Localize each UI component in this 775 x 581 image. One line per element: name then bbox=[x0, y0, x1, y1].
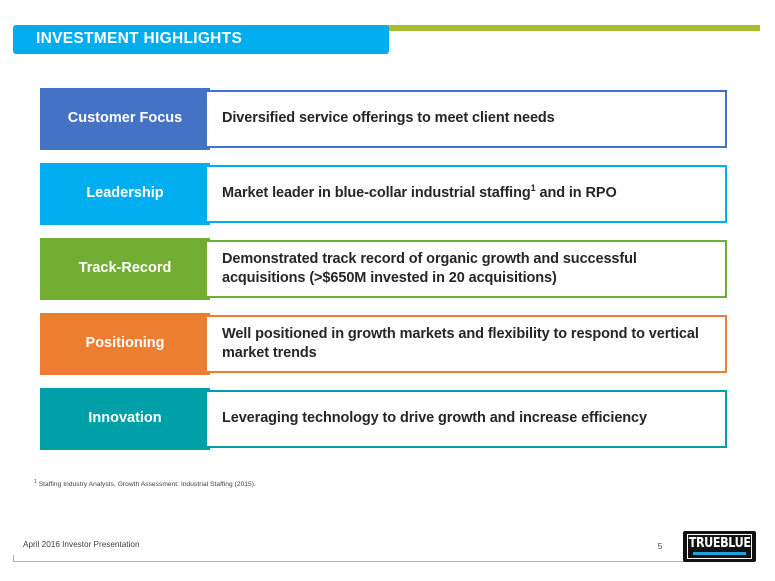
highlight-description-text: Market leader in blue-collar industrial … bbox=[207, 184, 627, 203]
highlight-category-label: Track-Record bbox=[79, 261, 172, 277]
highlights-list: Customer Focus Diversified service offer… bbox=[0, 88, 775, 463]
highlight-category-block-leadership: Leadership bbox=[40, 163, 210, 225]
slide-header: INVESTMENT HIGHLIGHTS bbox=[0, 0, 775, 62]
highlight-description-text: Leveraging technology to drive growth an… bbox=[207, 409, 657, 428]
highlight-description-box-leadership: Market leader in blue-collar industrial … bbox=[205, 165, 727, 223]
logo-wordmark: TRUEBLUE bbox=[689, 536, 751, 550]
highlight-category-label: Innovation bbox=[88, 411, 161, 427]
list-item: Leadership Market leader in blue-collar … bbox=[0, 163, 775, 225]
highlight-category-label: Customer Focus bbox=[68, 111, 182, 127]
logo-accent-bar bbox=[693, 552, 746, 555]
highlight-description-box-track-record: Demonstrated track record of organic gro… bbox=[205, 240, 727, 298]
footer-label: April 2016 Investor Presentation bbox=[23, 540, 140, 549]
highlight-description-text-part: Market leader in blue-collar industrial … bbox=[222, 185, 531, 201]
highlight-description-text: Well positioned in growth markets and fl… bbox=[207, 325, 725, 363]
footnote-text: Staffing Industry Analysts, Growth Asses… bbox=[37, 481, 256, 488]
list-item: Positioning Well positioned in growth ma… bbox=[0, 313, 775, 375]
highlight-category-label: Positioning bbox=[86, 336, 165, 352]
header-accent-bar bbox=[385, 25, 760, 31]
highlight-description-box-innovation: Leveraging technology to drive growth an… bbox=[205, 390, 727, 448]
highlight-category-block-customer-focus: Customer Focus bbox=[40, 88, 210, 150]
highlight-description-text: Demonstrated track record of organic gro… bbox=[207, 250, 725, 288]
highlight-category-block-innovation: Innovation bbox=[40, 388, 210, 450]
footnote: 1 Staffing Industry Analysts, Growth Ass… bbox=[34, 481, 256, 488]
highlight-description-text-part: and in RPO bbox=[536, 185, 617, 201]
highlight-description-box-customer-focus: Diversified service offerings to meet cl… bbox=[205, 90, 727, 148]
highlight-category-block-positioning: Positioning bbox=[40, 313, 210, 375]
page-number: 5 bbox=[650, 542, 670, 551]
slide-footer: April 2016 Investor Presentation 5 bbox=[0, 530, 775, 581]
list-item: Track-Record Demonstrated track record o… bbox=[0, 238, 775, 300]
trueblue-logo: TRUEBLUE bbox=[683, 531, 756, 562]
footer-divider bbox=[13, 561, 736, 562]
highlight-description-box-positioning: Well positioned in growth markets and fl… bbox=[205, 315, 727, 373]
highlight-category-label: Leadership bbox=[86, 186, 163, 202]
highlight-description-text: Diversified service offerings to meet cl… bbox=[207, 109, 565, 128]
list-item: Customer Focus Diversified service offer… bbox=[0, 88, 775, 150]
list-item: Innovation Leveraging technology to driv… bbox=[0, 388, 775, 450]
page-title: INVESTMENT HIGHLIGHTS bbox=[36, 30, 242, 48]
highlight-category-block-track-record: Track-Record bbox=[40, 238, 210, 300]
logo-frame: TRUEBLUE bbox=[687, 534, 752, 559]
